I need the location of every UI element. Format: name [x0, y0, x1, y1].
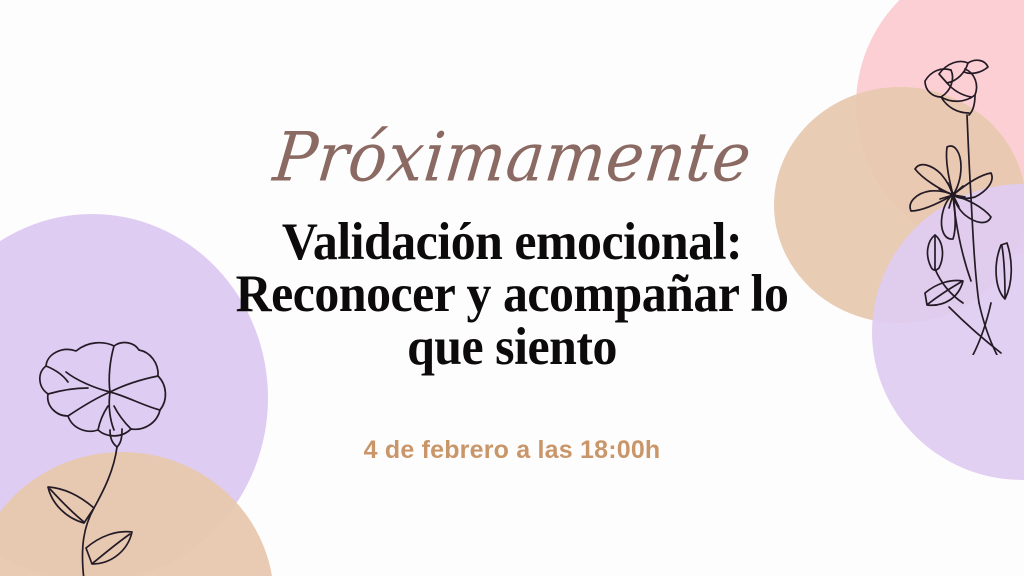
announcement-poster: Próximamente Validación emocional: Recon…	[0, 0, 1024, 576]
page-title: Validación emocional: Reconocer y acompa…	[202, 216, 822, 373]
eyebrow-coming-soon: Próximamente	[270, 124, 754, 192]
event-date-time: 4 de febrero a las 18:00h	[364, 436, 661, 465]
poster-text-stack: Próximamente Validación emocional: Recon…	[0, 0, 1024, 576]
